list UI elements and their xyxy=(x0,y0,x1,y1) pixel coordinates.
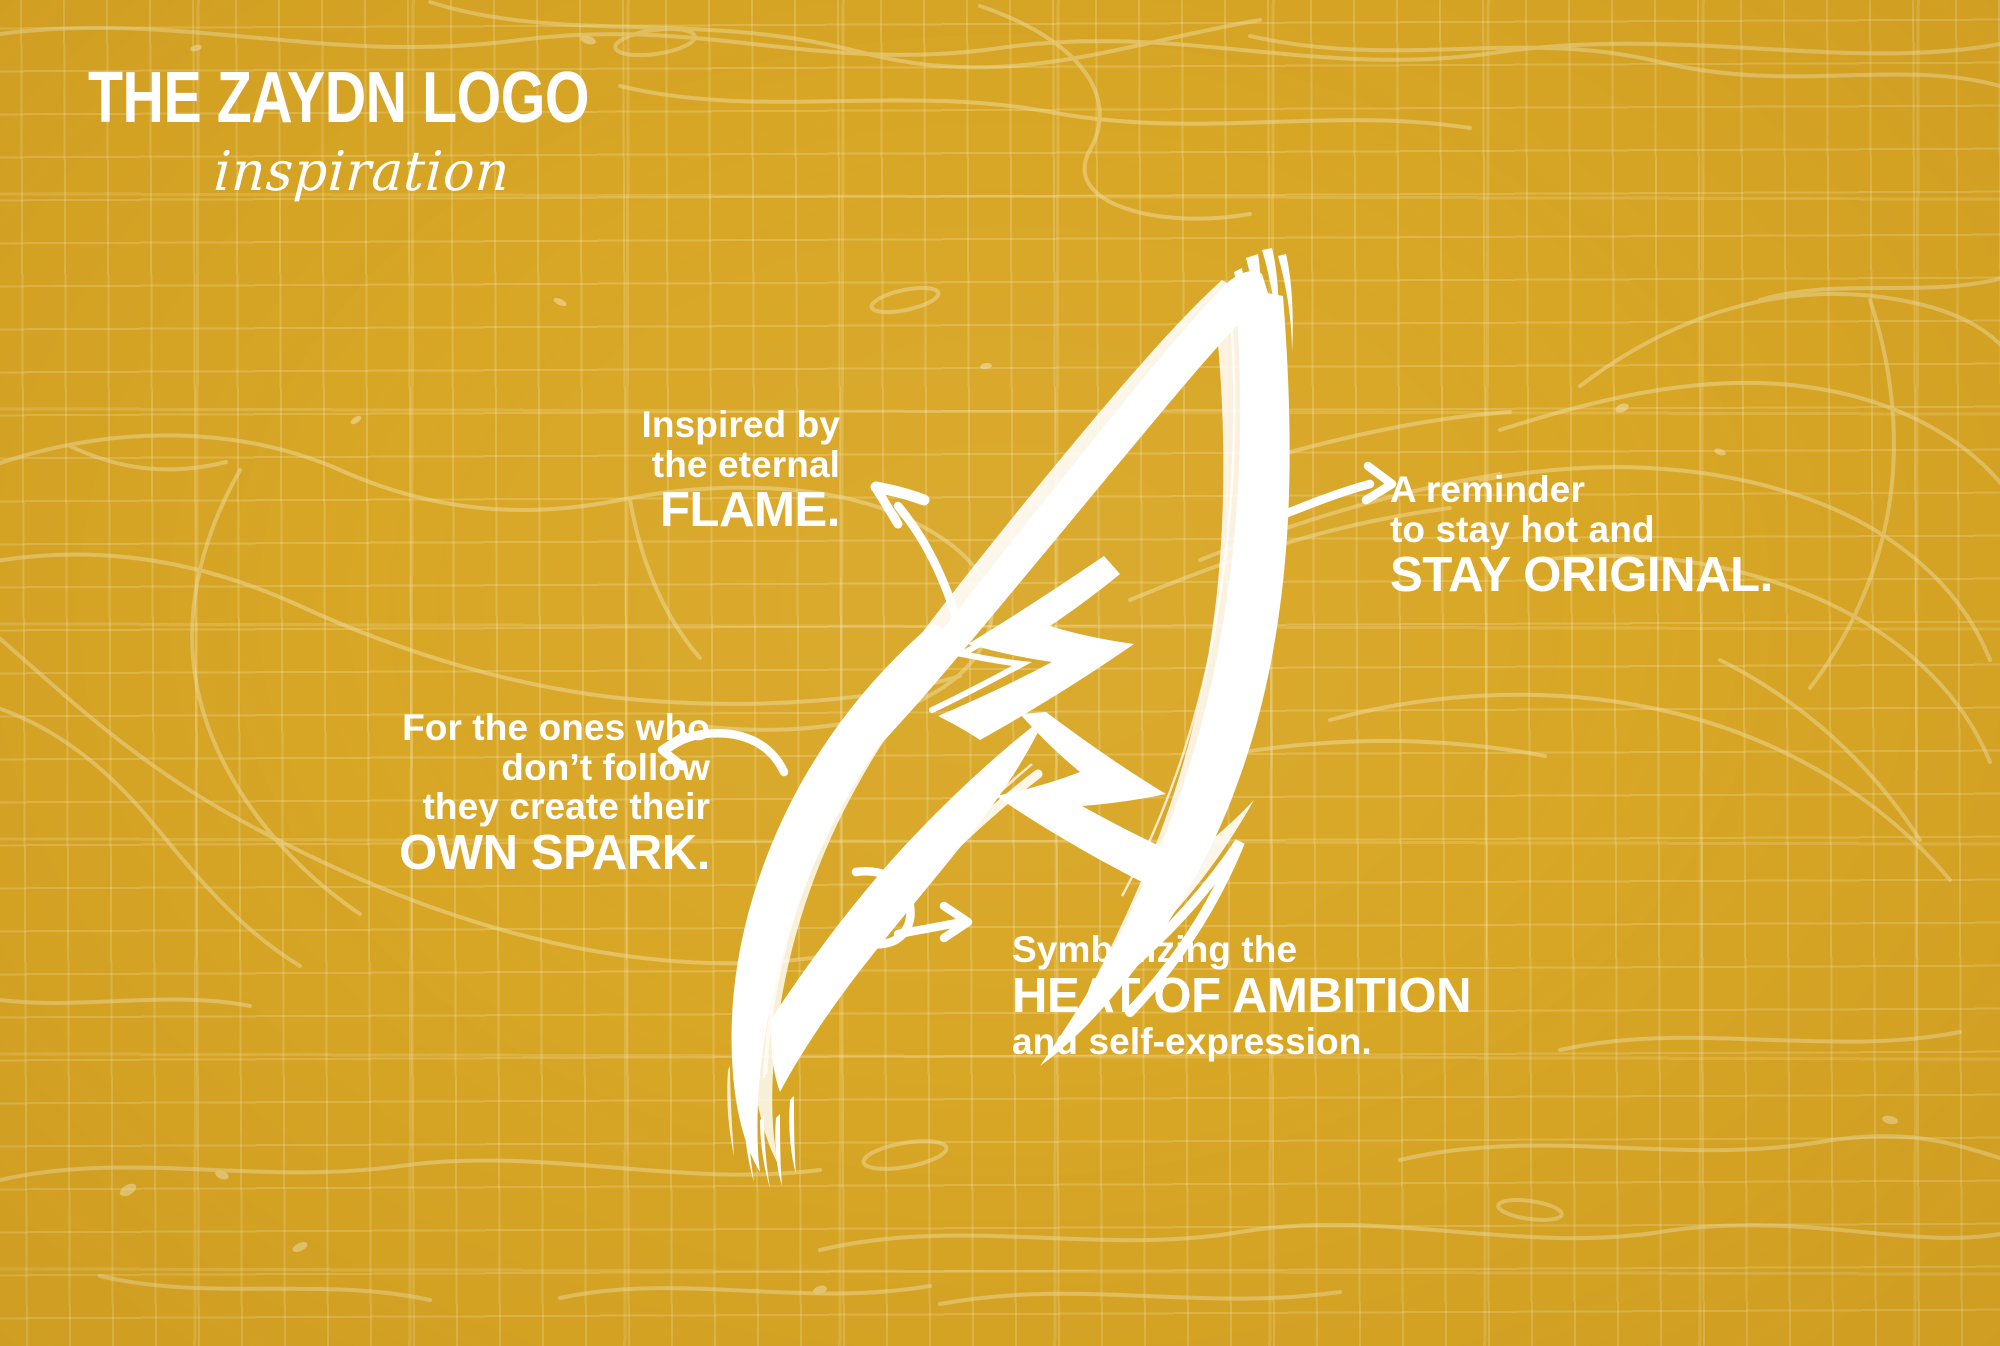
callout-flame: Inspired by the eternal FLAME. xyxy=(642,405,840,537)
callout-heat-of-ambition: Symbolizing the HEAT OF AMBITION and sel… xyxy=(1012,930,1471,1062)
poster-canvas: THE ZAYDN LOGO inspiration xyxy=(0,0,2000,1346)
callout-heat-line-3: and self-expression. xyxy=(1012,1022,1471,1062)
callout-stay-original: A reminder to stay hot and STAY ORIGINAL… xyxy=(1390,470,1773,602)
header-block: THE ZAYDN LOGO inspiration xyxy=(88,62,848,175)
page-title: THE ZAYDN LOGO xyxy=(88,62,802,134)
callout-spark-line-1: For the ones who xyxy=(399,708,710,748)
callout-original-line-2: to stay hot and xyxy=(1390,510,1773,550)
callout-heat-line-1: Symbolizing the xyxy=(1012,930,1471,970)
callout-flame-line-2: the eternal xyxy=(642,445,840,485)
callout-flame-line-1: Inspired by xyxy=(642,405,840,445)
callout-flame-line-3: FLAME. xyxy=(642,484,840,536)
callout-spark-line-3: they create their xyxy=(399,787,710,827)
callout-spark-line-2: don’t follow xyxy=(399,748,710,788)
callout-heat-line-2: HEAT OF AMBITION xyxy=(1012,970,1471,1022)
callout-spark-line-4: OWN SPARK. xyxy=(399,827,710,879)
callout-own-spark: For the ones who don’t follow they creat… xyxy=(399,708,710,879)
callout-original-line-3: STAY ORIGINAL. xyxy=(1390,549,1773,601)
callout-original-line-1: A reminder xyxy=(1390,470,1773,510)
page-subtitle: inspiration xyxy=(84,145,848,200)
